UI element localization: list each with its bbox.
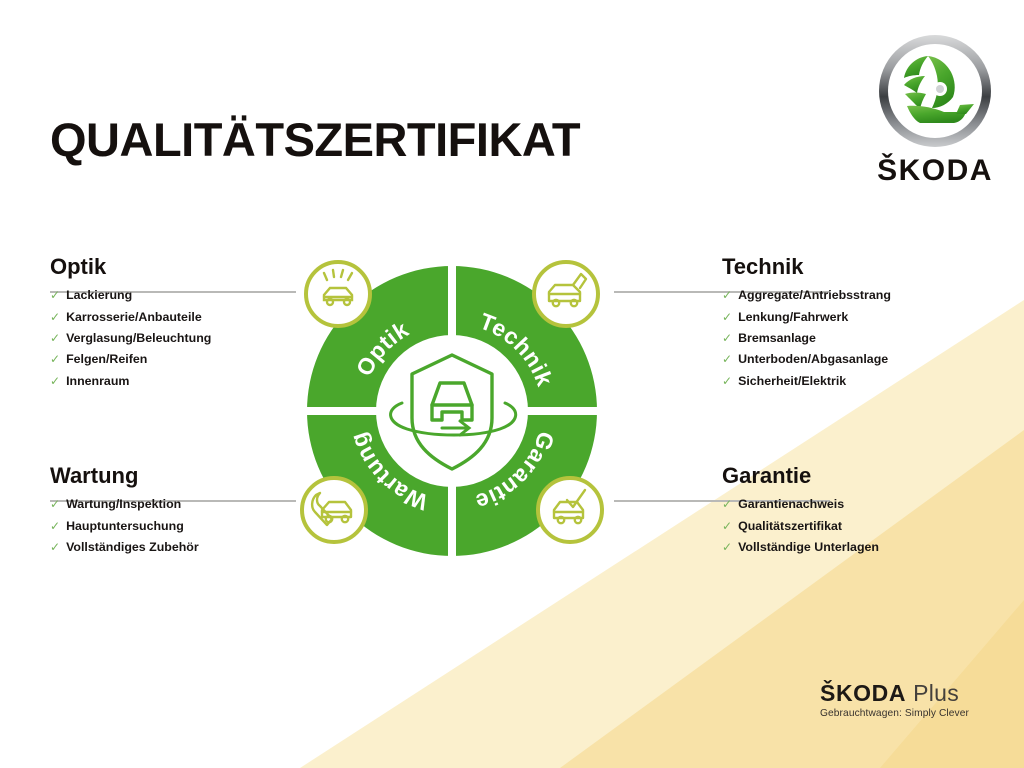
checklist-optik: ✓Lackierung ✓Karrosserie/Anbauteile ✓Ver… — [50, 289, 320, 387]
check-icon: ✓ — [722, 332, 732, 344]
list-item-label: Garantienachweis — [738, 498, 844, 510]
list-item-label: Verglasung/Beleuchtung — [66, 332, 211, 344]
list-item-label: Hauptuntersuchung — [66, 520, 184, 532]
list-item: ✓Unterboden/Abgasanlage — [722, 353, 1002, 365]
list-item-label: Sicherheit/Elektrik — [738, 375, 846, 387]
check-icon: ✓ — [50, 353, 60, 365]
skoda-winged-arrow-emblem — [876, 32, 994, 150]
list-item: ✓Verglasung/Beleuchtung — [50, 332, 320, 344]
orbit-arrow-icon — [391, 403, 516, 435]
skoda-wordmark: ŠKODA — [855, 154, 1015, 188]
check-icon: ✓ — [722, 520, 732, 532]
badge-wartung — [302, 478, 366, 542]
section-title-optik: Optik — [50, 255, 320, 278]
page-title: QUALITÄTSZERTIFIKAT — [50, 112, 580, 167]
section-title-garantie: Garantie — [722, 464, 1002, 487]
list-item: ✓Innenraum — [50, 375, 320, 387]
list-item: ✓Lackierung — [50, 289, 320, 301]
list-item: ✓Lenkung/Fahrwerk — [722, 311, 1002, 323]
section-title-technik: Technik — [722, 255, 1002, 278]
check-icon: ✓ — [50, 289, 60, 301]
check-icon: ✓ — [50, 498, 60, 510]
check-icon: ✓ — [50, 311, 60, 323]
badge-garantie — [538, 478, 602, 542]
shield-car-orbit-icon — [412, 355, 492, 469]
badge-technik — [534, 262, 598, 326]
list-item-label: Lackierung — [66, 289, 132, 301]
list-item: ✓Felgen/Reifen — [50, 353, 320, 365]
check-icon: ✓ — [50, 375, 60, 387]
skoda-plus-footer-logo: ŠKODAPlus Gebrauchtwagen: Simply Clever — [820, 682, 1000, 719]
quality-wheel-diagram: Optik Technik Wartung Garantie — [286, 242, 618, 562]
footer-logo-line: ŠKODAPlus — [820, 682, 1000, 705]
check-icon: ✓ — [722, 375, 732, 387]
section-optik: Optik ✓Lackierung ✓Karrosserie/Anbauteil… — [50, 255, 320, 396]
check-icon: ✓ — [50, 520, 60, 532]
list-item: ✓Vollständige Unterlagen — [722, 541, 1002, 553]
check-icon: ✓ — [50, 332, 60, 344]
list-item-label: Bremsanlage — [738, 332, 816, 344]
certificate-page: QUALITÄTSZERTIFIKAT — [0, 0, 1024, 768]
list-item-label: Karrosserie/Anbauteile — [66, 311, 202, 323]
list-item-label: Wartung/Inspektion — [66, 498, 181, 510]
list-item: ✓Vollständiges Zubehör — [50, 541, 320, 553]
checklist-technik: ✓Aggregate/Antriebsstrang ✓Lenkung/Fahrw… — [722, 289, 1002, 387]
check-icon: ✓ — [722, 311, 732, 323]
footer-tagline: Gebrauchtwagen: Simply Clever — [820, 708, 1000, 719]
check-icon: ✓ — [722, 289, 732, 301]
footer-plus-word: Plus — [913, 680, 959, 706]
list-item-label: Vollständige Unterlagen — [738, 541, 879, 553]
section-garantie: Garantie ✓Garantienachweis ✓Qualitätszer… — [722, 464, 1002, 562]
list-item: ✓Garantienachweis — [722, 498, 1002, 510]
list-item-label: Lenkung/Fahrwerk — [738, 311, 848, 323]
wheel-segment-optik — [286, 242, 448, 407]
list-item: ✓Wartung/Inspektion — [50, 498, 320, 510]
check-icon: ✓ — [50, 541, 60, 553]
list-item-label: Felgen/Reifen — [66, 353, 147, 365]
checklist-garantie: ✓Garantienachweis ✓Qualitätszertifikat ✓… — [722, 498, 1002, 553]
list-item-label: Vollständiges Zubehör — [66, 541, 199, 553]
check-icon: ✓ — [722, 541, 732, 553]
check-icon: ✓ — [722, 353, 732, 365]
check-icon: ✓ — [722, 498, 732, 510]
list-item-label: Qualitätszertifikat — [738, 520, 842, 532]
badge-optik — [306, 262, 370, 326]
list-item: ✓Hauptuntersuchung — [50, 520, 320, 532]
list-item: ✓Sicherheit/Elektrik — [722, 375, 1002, 387]
list-item-label: Aggregate/Antriebsstrang — [738, 289, 891, 301]
list-item-label: Innenraum — [66, 375, 129, 387]
list-item: ✓Qualitätszertifikat — [722, 520, 1002, 532]
list-item: ✓Karrosserie/Anbauteile — [50, 311, 320, 323]
list-item-label: Unterboden/Abgasanlage — [738, 353, 888, 365]
skoda-logo: ŠKODA — [855, 32, 1015, 197]
footer-skoda-wordmark: ŠKODA — [820, 680, 906, 706]
section-technik: Technik ✓Aggregate/Antriebsstrang ✓Lenku… — [722, 255, 1002, 396]
checklist-wartung: ✓Wartung/Inspektion ✓Hauptuntersuchung ✓… — [50, 498, 320, 553]
section-wartung: Wartung ✓Wartung/Inspektion ✓Hauptunters… — [50, 464, 320, 562]
section-title-wartung: Wartung — [50, 464, 320, 487]
list-item: ✓Bremsanlage — [722, 332, 1002, 344]
list-item: ✓Aggregate/Antriebsstrang — [722, 289, 1002, 301]
